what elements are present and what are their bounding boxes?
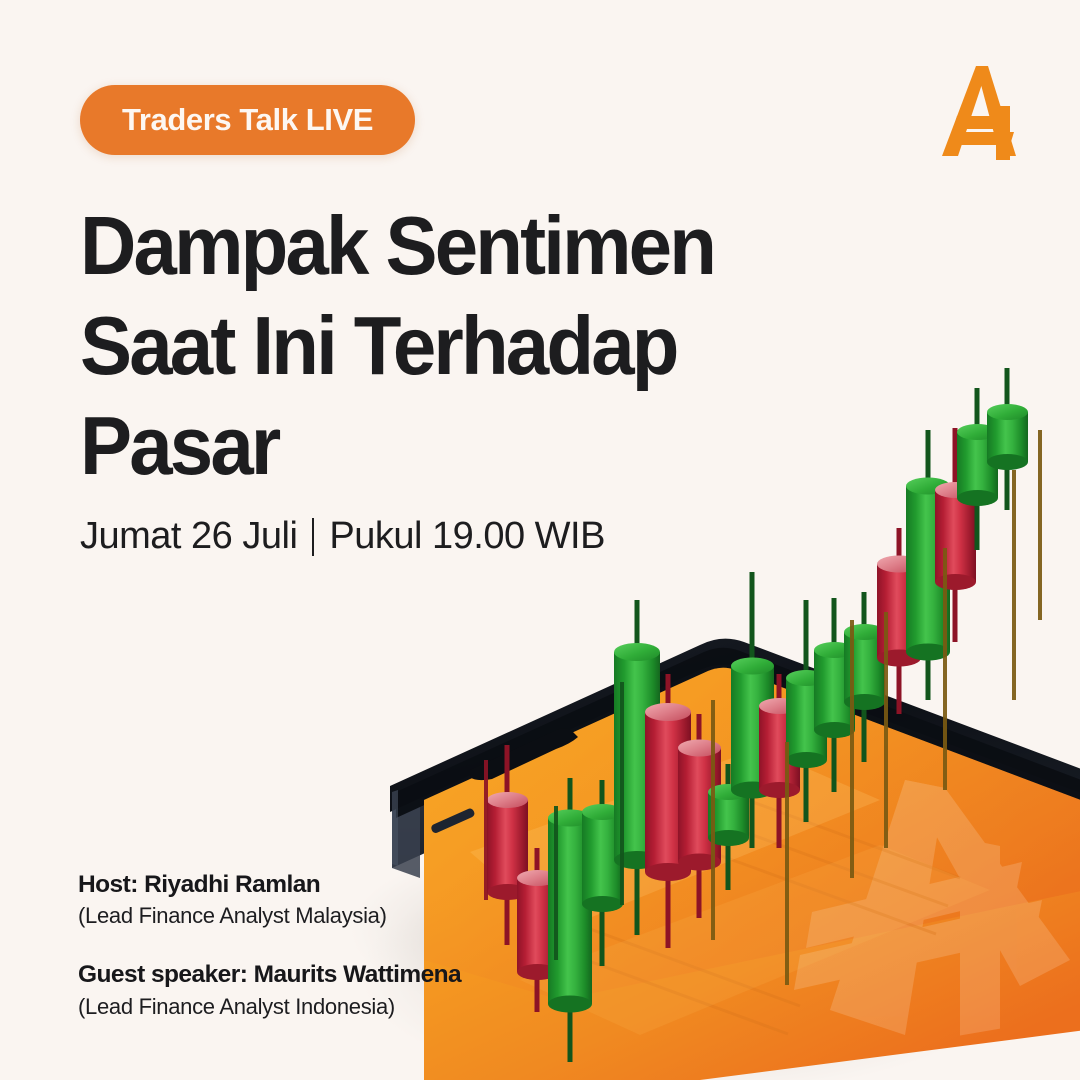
speaker-list: Host: Riyadhi Ramlan (Lead Finance Analy… bbox=[78, 869, 548, 1022]
screen-logo-watermark bbox=[794, 780, 1070, 1042]
candle-wicks-extra bbox=[486, 430, 1040, 985]
candle-bearish bbox=[935, 428, 976, 642]
candle-bullish bbox=[708, 764, 749, 890]
title-line-1: Dampak Sentimen bbox=[80, 196, 794, 296]
phone-volume-button bbox=[430, 807, 476, 834]
speaker-guest-role: (Lead Finance Analyst Indonesia) bbox=[78, 991, 548, 1022]
candle-bullish bbox=[786, 600, 827, 822]
candle-bearish bbox=[645, 674, 691, 948]
live-badge-label: Traders Talk LIVE bbox=[122, 102, 373, 138]
event-schedule: Jumat 26 Juli Pukul 19.00 WIB bbox=[80, 515, 605, 558]
event-date: Jumat 26 Juli bbox=[80, 515, 297, 558]
candle-bullish bbox=[614, 600, 660, 935]
phone-notch bbox=[470, 728, 578, 780]
ascendex-a-logo-icon bbox=[936, 60, 1028, 160]
title-line-2: Saat Ini Terhadap bbox=[80, 296, 794, 396]
schedule-separator bbox=[312, 518, 314, 556]
candle-bearish bbox=[759, 674, 800, 848]
speaker-host-role: (Lead Finance Analyst Malaysia) bbox=[78, 900, 548, 931]
candle-bullish bbox=[582, 780, 623, 966]
title-line-3: Pasar bbox=[80, 396, 794, 496]
candle-bullish bbox=[731, 572, 774, 848]
event-time: Pukul 19.00 WIB bbox=[329, 515, 605, 558]
candle-bullish bbox=[844, 592, 885, 762]
speaker-host-name: Host: Riyadhi Ramlan bbox=[78, 869, 548, 900]
candle-bullish bbox=[814, 598, 855, 792]
live-badge[interactable]: Traders Talk LIVE bbox=[80, 85, 415, 155]
candle-bullish bbox=[957, 388, 998, 550]
screen-grid-lines bbox=[548, 790, 960, 1034]
candle-bullish bbox=[906, 430, 950, 700]
speaker-host: Host: Riyadhi Ramlan (Lead Finance Analy… bbox=[78, 869, 548, 932]
poster-canvas: Traders Talk LIVE Dampak Sentimen Saat I… bbox=[0, 0, 1080, 1080]
candle-bearish bbox=[678, 714, 721, 918]
candle-bullish bbox=[548, 778, 592, 1062]
page-title: Dampak Sentimen Saat Ini Terhadap Pasar bbox=[80, 196, 840, 496]
candle-bearish bbox=[877, 528, 921, 714]
candle-bullish bbox=[987, 368, 1028, 510]
speaker-guest-name: Guest speaker: Maurits Wattimena bbox=[78, 959, 548, 990]
speaker-guest: Guest speaker: Maurits Wattimena (Lead F… bbox=[78, 959, 548, 1022]
